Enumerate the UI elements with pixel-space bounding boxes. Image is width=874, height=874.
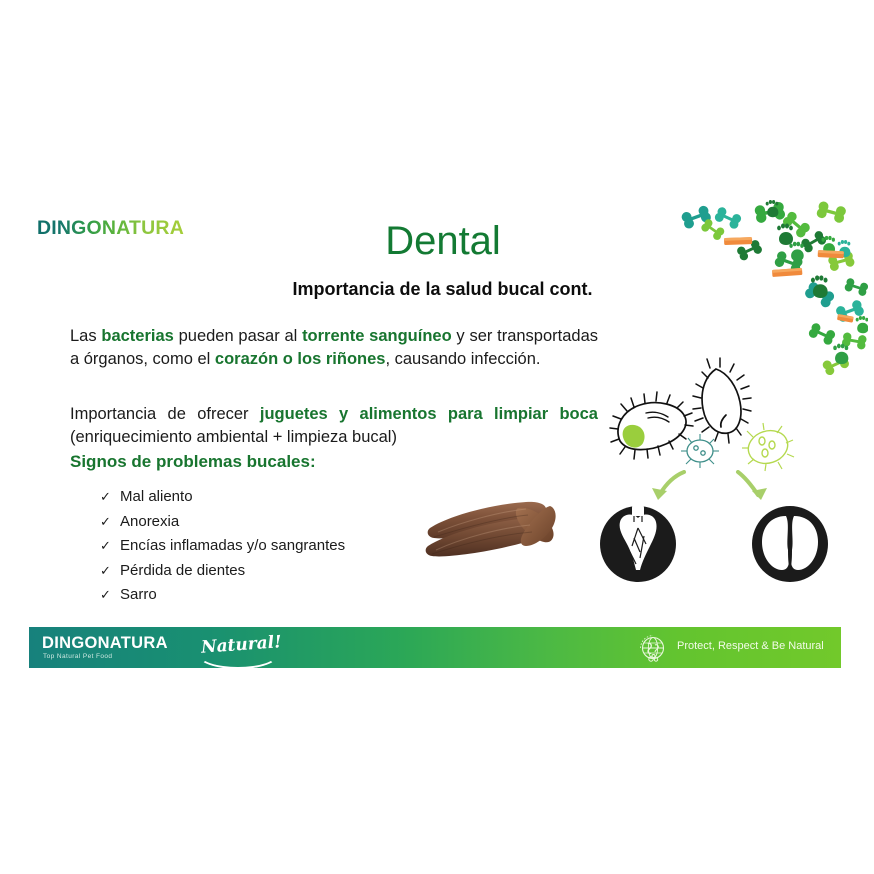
page-subtitle: Importancia de la salud bucal cont. — [250, 279, 635, 300]
paragraph-bacteria: Las bacterias pueden pasar al torrente s… — [70, 325, 598, 371]
page-title: Dental — [263, 218, 623, 264]
list-item-label: Anorexia — [120, 510, 179, 535]
orange-bar-shape — [772, 268, 802, 277]
list-item-label: Pérdida de dientes — [120, 559, 245, 584]
slide-canvas: DINGONATURA Dental Importancia de la sal… — [0, 0, 874, 874]
signs-list: ✓Mal aliento✓Anorexia✓Encías inflamadas … — [100, 485, 345, 608]
check-icon: ✓ — [100, 485, 111, 510]
list-item: ✓Pérdida de dientes — [100, 559, 345, 584]
footer-logo: DINGONATURA — [42, 634, 168, 653]
bone-icon — [818, 203, 845, 222]
highlight-text: torrente sanguíneo — [302, 327, 452, 345]
footer-bar: DINGONATURA Top Natural Pet Food Natural… — [29, 627, 841, 668]
list-item: ✓Mal aliento — [100, 485, 345, 510]
heart-icon — [600, 504, 676, 582]
list-item-label: Mal aliento — [120, 485, 193, 510]
list-item-label: Encías inflamadas y/o sangrantes — [120, 534, 345, 559]
organs-illustration — [588, 470, 840, 590]
body-text: Importancia de ofrecer — [70, 405, 260, 423]
brand-logo: DINGONATURA — [37, 217, 184, 240]
body-text: pueden pasar al — [174, 327, 302, 345]
list-item: ✓Sarro — [100, 583, 345, 608]
footer-tagline: Top Natural Pet Food — [43, 653, 112, 660]
list-item-label: Sarro — [120, 583, 157, 608]
highlight-text: bacterias — [101, 327, 173, 345]
signs-heading: Signos de problemas bucales: — [70, 452, 316, 472]
bone-icon — [845, 279, 867, 295]
kidneys-icon — [752, 506, 828, 582]
paw-icon — [777, 224, 793, 246]
list-item: ✓Encías inflamadas y/o sangrantes — [100, 534, 345, 559]
orange-bar-shape — [724, 237, 752, 245]
paragraph-toys-food: Importancia de ofrecer juguetes y alimen… — [70, 403, 598, 449]
orange-bar-shape — [818, 250, 844, 258]
dental-chew-stick-photo — [418, 484, 583, 579]
list-item: ✓Anorexia — [100, 510, 345, 535]
bone-icon — [715, 208, 740, 228]
paw-icon — [856, 316, 868, 333]
check-icon: ✓ — [100, 583, 111, 608]
body-text: , causando infección. — [385, 350, 540, 368]
body-text: (enriquecimiento ambiental + limpieza bu… — [70, 428, 397, 446]
bone-icon — [702, 220, 724, 240]
orange-bar-shape — [837, 314, 854, 323]
globe-icon — [637, 632, 669, 664]
check-icon: ✓ — [100, 559, 111, 584]
check-icon: ✓ — [100, 534, 111, 559]
bone-icon — [802, 232, 826, 252]
body-text: Las — [70, 327, 101, 345]
bone-icon — [809, 324, 834, 344]
highlight-text: corazón o los riñones — [215, 350, 386, 368]
check-icon: ✓ — [100, 510, 111, 535]
paw-icon — [766, 200, 779, 217]
highlight-text: juguetes y alimentos para limpiar boca — [260, 405, 598, 423]
footer-claim: Protect, Respect & Be Natural — [677, 640, 824, 652]
paw-icon — [789, 242, 803, 261]
